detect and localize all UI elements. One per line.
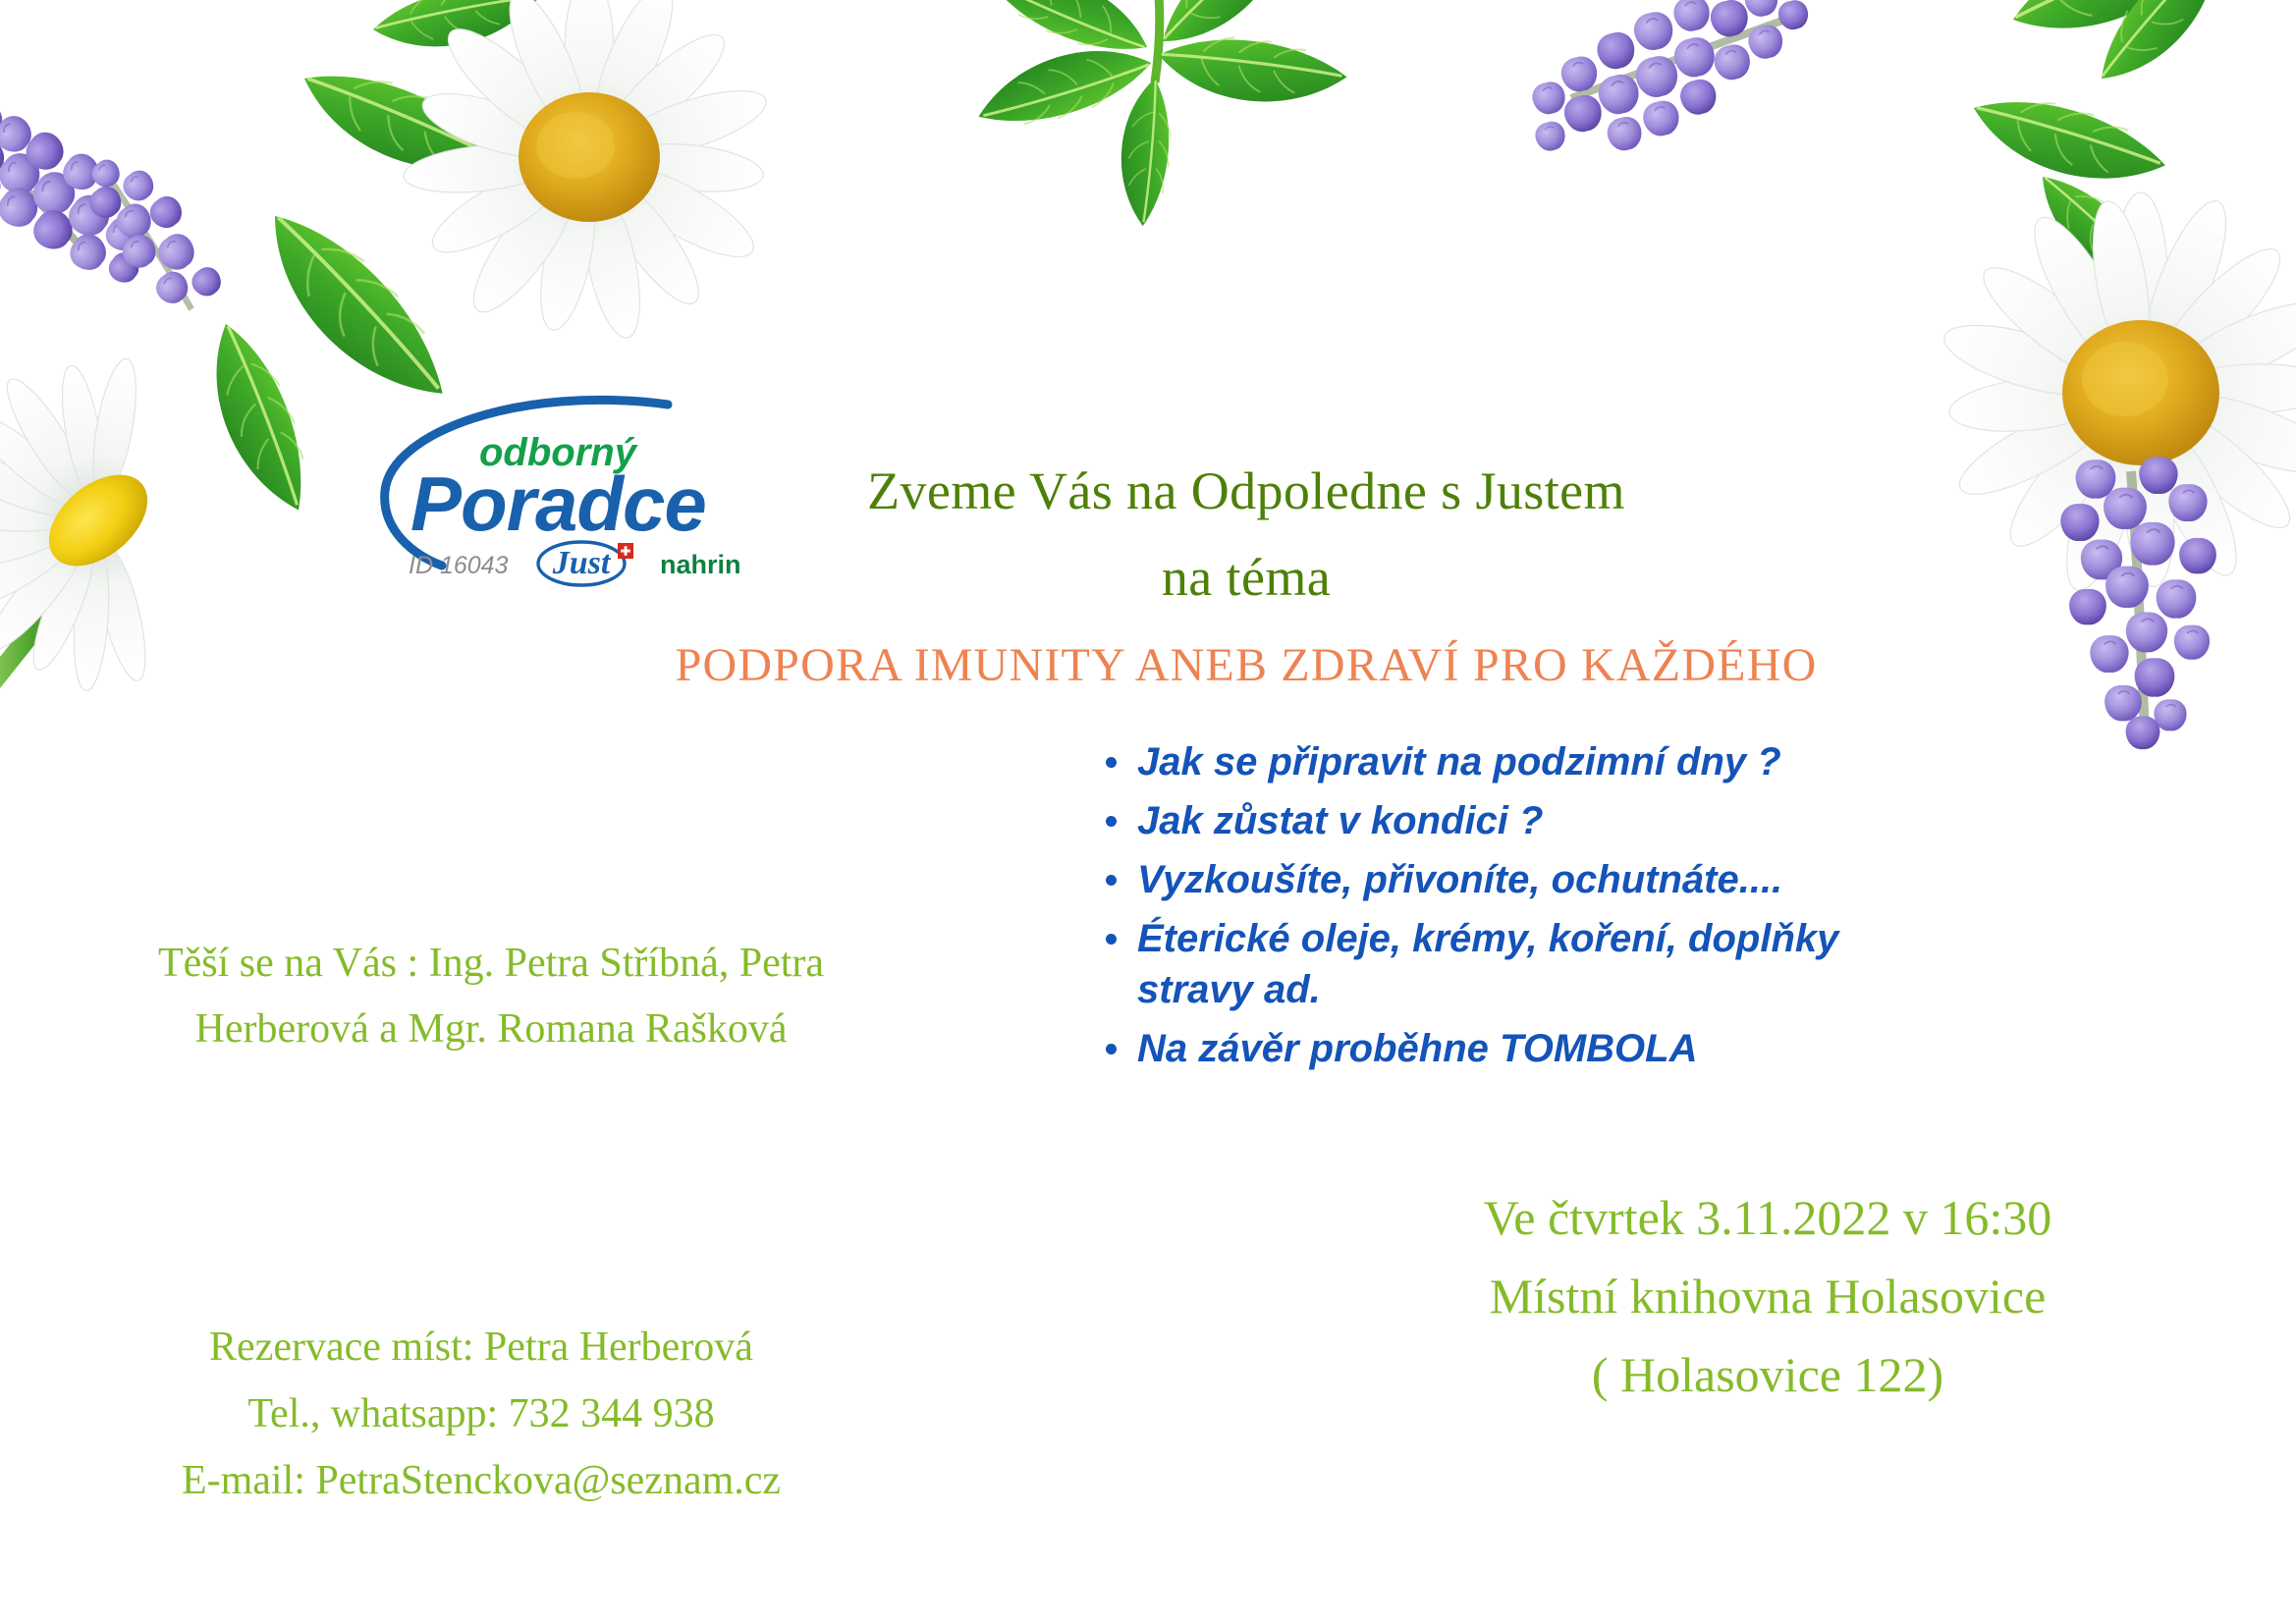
contact-block: Rezervace míst: Petra Herberová Tel., wh… [10, 1314, 953, 1514]
list-item: Jak zůstat v kondici ? [1098, 795, 1962, 846]
list-item: Éterické oleje, krémy, koření, doplňky s… [1098, 913, 1962, 1015]
mint-leaf-icon [290, 42, 512, 206]
daisy-flower-icon [402, 0, 774, 343]
list-item: Jak se připravit na podzimní dny ? [1098, 736, 1962, 787]
hosts-block: Těší se na Vás : Ing. Petra Stříbná, Pet… [20, 931, 962, 1062]
invitation-headline-text: Zveme Vás na Odpoledne s Justem [867, 454, 1625, 529]
lavender-sprig-icon [68, 139, 236, 324]
invitation-subheadline: na téma [0, 540, 2296, 616]
list-item: Na závěr proběhne TOMBOLA [1098, 1023, 1962, 1074]
event-datetime: Ve čtvrtek 3.11.2022 v 16:30 [1336, 1178, 2200, 1257]
decor-top-left [0, 0, 786, 736]
invitation-headline: Zveme Vás na Odpoledne s Justem [0, 454, 2296, 529]
mint-leaf-icon [2026, 156, 2175, 313]
program-list: Jak se připravit na podzimní dny ? Jak z… [1098, 736, 1962, 1082]
list-item: Vyzkoušíte, přivoníte, ochutnáte.... [1098, 854, 1962, 905]
topic-title: PODPORA IMUNITY ANEB ZDRAVÍ PRO KAŽDÉHO [0, 638, 2296, 692]
email-contact: E-mail: PetraStenckova@seznam.cz [10, 1447, 953, 1514]
reservation-contact: Rezervace míst: Petra Herberová [10, 1314, 953, 1380]
decor-right-edge [1984, 461, 2296, 933]
mint-leaf-icon [2078, 0, 2246, 96]
phone-contact: Tel., whatsapp: 732 344 938 [10, 1380, 953, 1447]
mint-sprig-icon [970, 0, 1351, 229]
mint-leaf-icon [1963, 73, 2172, 209]
program-item-label: Jak zůstat v kondici ? [1137, 799, 1543, 842]
lavender-sprig-icon [0, 68, 177, 307]
hosts-line-1: Těší se na Vás : Ing. Petra Stříbná, Pet… [20, 931, 962, 997]
invitation-subheadline-text: na téma [1162, 540, 1331, 616]
lavender-sprig-icon [1511, 0, 1830, 171]
daisy-flower-icon [1938, 192, 2296, 598]
program-item-label: Vyzkoušíte, přivoníte, ochutnáte.... [1137, 858, 1782, 901]
mint-leaf-icon [370, 0, 545, 53]
topic-title-text: PODPORA IMUNITY ANEB ZDRAVÍ PRO KAŽDÉHO [676, 638, 1818, 692]
program-item-label: Jak se připravit na podzimní dny ? [1137, 740, 1781, 784]
event-details-block: Ve čtvrtek 3.11.2022 v 16:30 Místní knih… [1336, 1178, 2200, 1414]
hosts-line-2: Herberová a Mgr. Romana Rašková [20, 997, 962, 1062]
event-venue: Místní knihovna Holasovice [1336, 1257, 2200, 1335]
program-item-label: Éterické oleje, krémy, koření, doplňky s… [1137, 917, 1838, 1011]
decor-top-center [864, 0, 1434, 285]
event-address: ( Holasovice 122) [1336, 1335, 2200, 1414]
mint-leaf-icon [2000, 0, 2233, 49]
program-item-label: Na závěr proběhne TOMBOLA [1137, 1027, 1697, 1070]
